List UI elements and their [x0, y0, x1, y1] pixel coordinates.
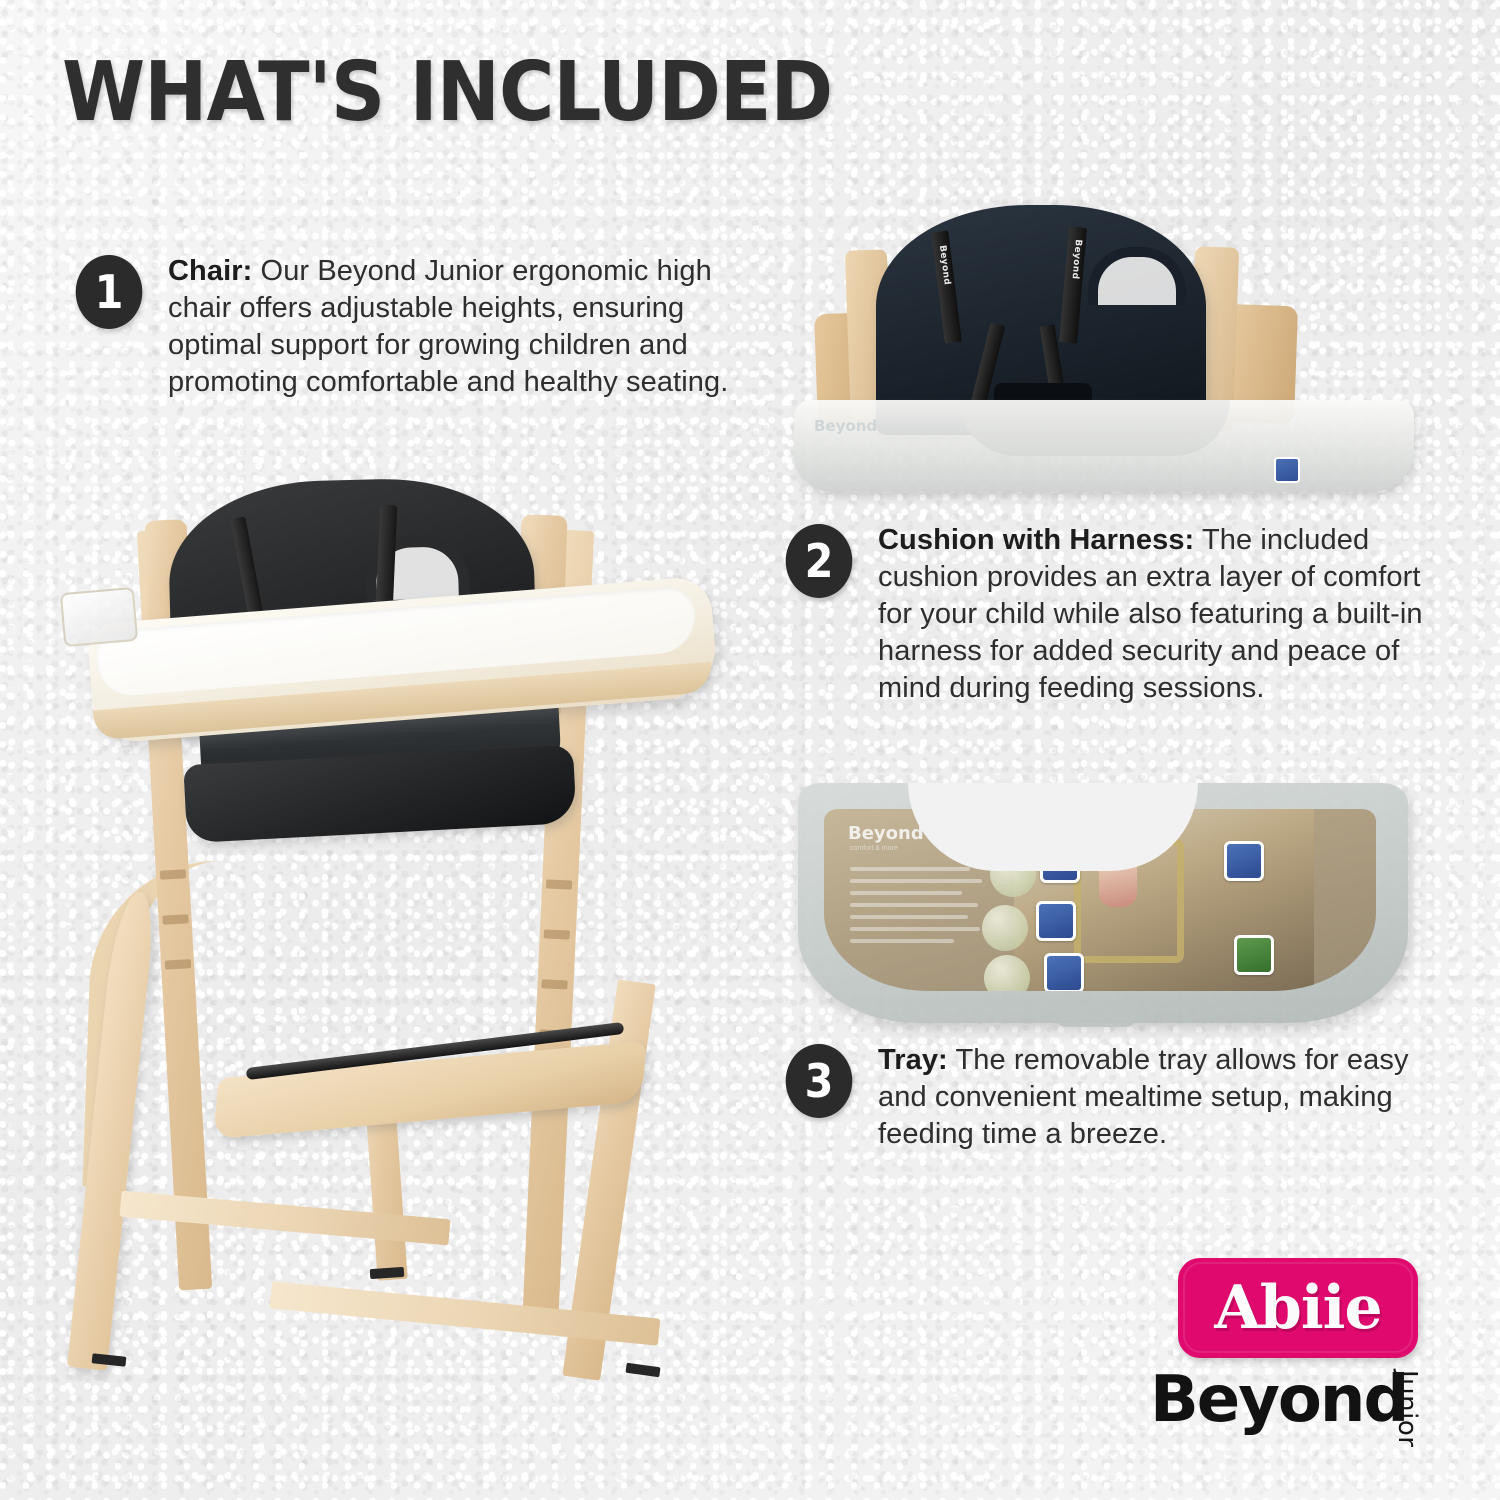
product-photo-tray: Beyond comfort & more — [788, 765, 1428, 1045]
list-item-label: Chair: — [168, 255, 252, 287]
tray-info-icon — [1274, 457, 1300, 483]
cushion-strap-left: Beyond — [931, 230, 962, 343]
abiie-wordmark: Abiie — [1214, 1278, 1381, 1338]
cushion-strap-right: Beyond — [1059, 226, 1087, 343]
strap-brand-label-right: Beyond — [1070, 239, 1083, 280]
abiie-logo-pill: Abiie — [1178, 1258, 1418, 1358]
list-item-body: The removable tray allows for easy and c… — [878, 1044, 1409, 1150]
beyond-wordmark: Beyond — [1150, 1368, 1407, 1432]
chair-tray-clip — [60, 587, 138, 647]
junior-wordmark: Junior — [1392, 1370, 1422, 1447]
list-item-cushion: 2 Cushion with Harness: The included cus… — [782, 522, 1462, 707]
cushion-photo-tray-notch — [960, 400, 1230, 456]
step-number-badge: 1 — [76, 255, 143, 329]
tray-feature-circle — [982, 905, 1028, 951]
tray-certification-icon — [1044, 953, 1084, 991]
tray-eco-icon — [1234, 935, 1274, 975]
step-number-badge: 3 — [786, 1044, 853, 1118]
tray-front-notch — [908, 783, 1198, 871]
tray-certification-icon — [1036, 901, 1076, 941]
infographic-page: WHAT'S INCLUDED 1 Chair: Our Beyond Juni… — [0, 0, 1500, 1500]
tray-certification-icon — [1224, 841, 1264, 881]
page-title: WHAT'S INCLUDED — [62, 50, 832, 136]
list-item-body: Our Beyond Junior ergonomic high chair o… — [168, 255, 728, 398]
cushion-tray-brand-label: Beyond — [814, 417, 877, 435]
brand-logo: Abiie Beyond Junior — [1150, 1258, 1460, 1473]
list-item-text: Tray: The removable tray allows for easy… — [878, 1042, 1462, 1153]
chair-foot-tip — [625, 1363, 660, 1378]
step-number-badge: 2 — [786, 524, 853, 598]
list-item-chair: 1 Chair: Our Beyond Junior ergonomic hig… — [72, 253, 762, 401]
cushion-harness-opening — [1088, 247, 1186, 305]
tray-brand-label: Beyond — [848, 823, 924, 844]
list-item-tray: 3 Tray: The removable tray allows for ea… — [782, 1042, 1462, 1153]
product-photo-chair — [70, 460, 750, 1380]
product-photo-cushion: Beyond Beyond Beyond — [788, 195, 1428, 495]
tray-foot-tab — [1056, 1013, 1136, 1027]
list-item-text: Cushion with Harness: The included cushi… — [878, 522, 1462, 707]
strap-brand-label-left: Beyond — [937, 245, 952, 286]
list-item-text: Chair: Our Beyond Junior ergonomic high … — [168, 253, 762, 401]
list-item-label: Cushion with Harness: — [878, 524, 1194, 556]
tray-subbrand-label: comfort & more — [850, 845, 898, 852]
list-item-label: Tray: — [878, 1044, 948, 1076]
